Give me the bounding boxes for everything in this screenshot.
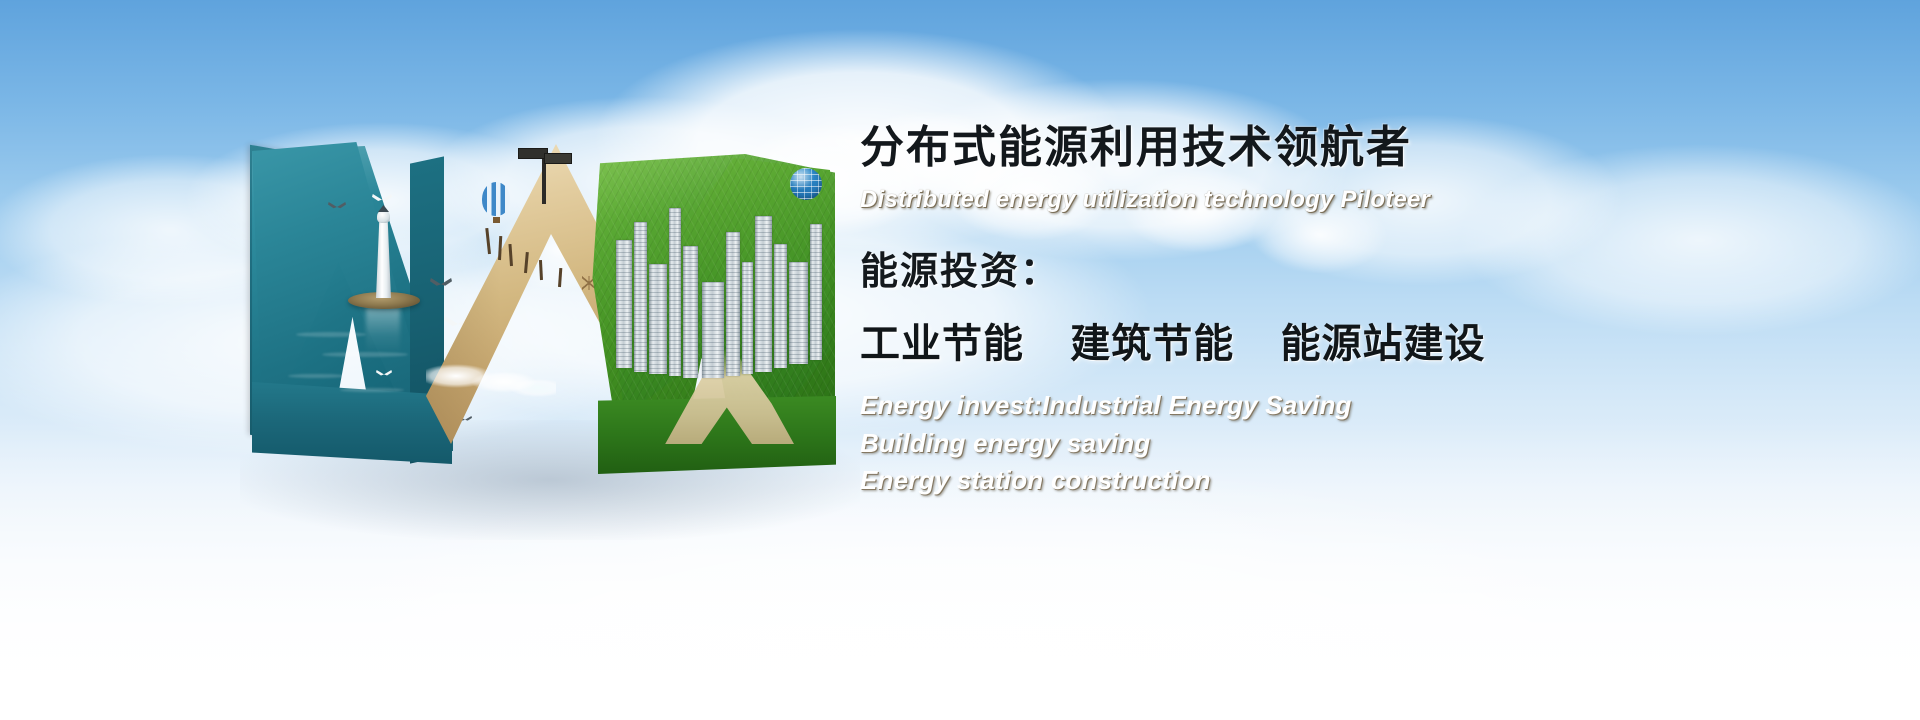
skyscraper bbox=[755, 216, 772, 372]
sea-wave bbox=[288, 374, 346, 378]
skyscraper bbox=[789, 262, 808, 364]
seagull-icon bbox=[376, 370, 392, 377]
balloon-envelope bbox=[482, 182, 510, 216]
skyscraper bbox=[702, 282, 724, 378]
sea-wave bbox=[296, 332, 366, 337]
w-letter-artwork bbox=[230, 120, 870, 520]
service-item-industrial: 工业节能 bbox=[860, 322, 1024, 366]
signpost-arm-right bbox=[544, 153, 572, 164]
globe-icon bbox=[790, 168, 822, 200]
lighthouse-reflection bbox=[366, 308, 400, 354]
balloon-basket bbox=[493, 217, 500, 223]
hot-air-balloon-icon bbox=[482, 182, 510, 216]
skyscraper bbox=[726, 232, 740, 376]
fence-post bbox=[558, 268, 562, 287]
seagull-icon bbox=[328, 202, 346, 210]
fence-post bbox=[539, 260, 543, 280]
skyscraper bbox=[810, 224, 822, 360]
services-list-english: Energy invest:Industrial Energy Saving B… bbox=[860, 387, 1870, 500]
skyscraper bbox=[649, 264, 667, 374]
sea-front-face bbox=[252, 382, 452, 464]
segment-title: 能源投资： bbox=[860, 240, 1870, 295]
fence-post bbox=[485, 228, 491, 254]
service-item-building: 建筑节能 bbox=[1070, 322, 1234, 366]
promo-banner: 分布式能源利用技术领航者 Distributed energy utilizat… bbox=[0, 0, 1920, 720]
skyscraper bbox=[742, 262, 753, 374]
headline-chinese: 分布式能源利用技术领航者 bbox=[860, 126, 1870, 170]
skyline-cluster bbox=[610, 180, 840, 430]
service-en-line-3: Energy station construction bbox=[860, 462, 1870, 500]
surf-foam bbox=[426, 358, 556, 400]
skyscraper bbox=[683, 246, 698, 378]
service-item-energy-station: 能源站建设 bbox=[1281, 322, 1486, 366]
service-en-line-2: Building energy saving bbox=[860, 425, 1870, 463]
seagull-icon bbox=[372, 194, 392, 203]
seagull-icon bbox=[430, 278, 452, 288]
banner-copy: 分布式能源利用技术领航者 Distributed energy utilizat… bbox=[860, 126, 1870, 500]
sea-wave bbox=[340, 388, 404, 392]
service-en-line-1: Energy invest:Industrial Energy Saving bbox=[860, 387, 1870, 425]
services-list-chinese: 工业节能 建筑节能 能源站建设 bbox=[860, 311, 1870, 369]
skyscraper bbox=[669, 208, 681, 376]
skyscraper bbox=[774, 244, 787, 368]
skyscraper bbox=[616, 240, 632, 368]
skyscraper bbox=[634, 222, 647, 372]
headline-english: Distributed energy utilization technolog… bbox=[860, 186, 1870, 214]
